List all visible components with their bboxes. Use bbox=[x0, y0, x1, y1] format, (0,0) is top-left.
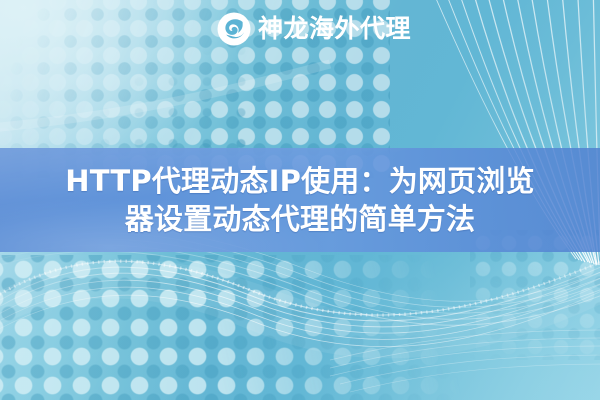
halftone-specks-upper-left bbox=[20, 4, 250, 154]
promo-banner: 神龙海外代理 HTTP代理动态IP使用：为网页浏览 器设置动态代理的简单方法 bbox=[0, 0, 600, 400]
banner-title: HTTP代理动态IP使用：为网页浏览 器设置动态代理的简单方法 bbox=[0, 148, 600, 252]
title-line-1: HTTP代理动态IP使用：为网页浏览 bbox=[65, 163, 534, 199]
dragon-swirl-logo-icon bbox=[217, 12, 251, 46]
title-line-2: 器设置动态代理的简单方法 bbox=[125, 201, 475, 237]
brand-logo[interactable]: 神龙海外代理 bbox=[217, 11, 411, 47]
brand-name: 神龙海外代理 bbox=[258, 14, 411, 44]
halftone-dots-bottom-left bbox=[0, 255, 540, 400]
